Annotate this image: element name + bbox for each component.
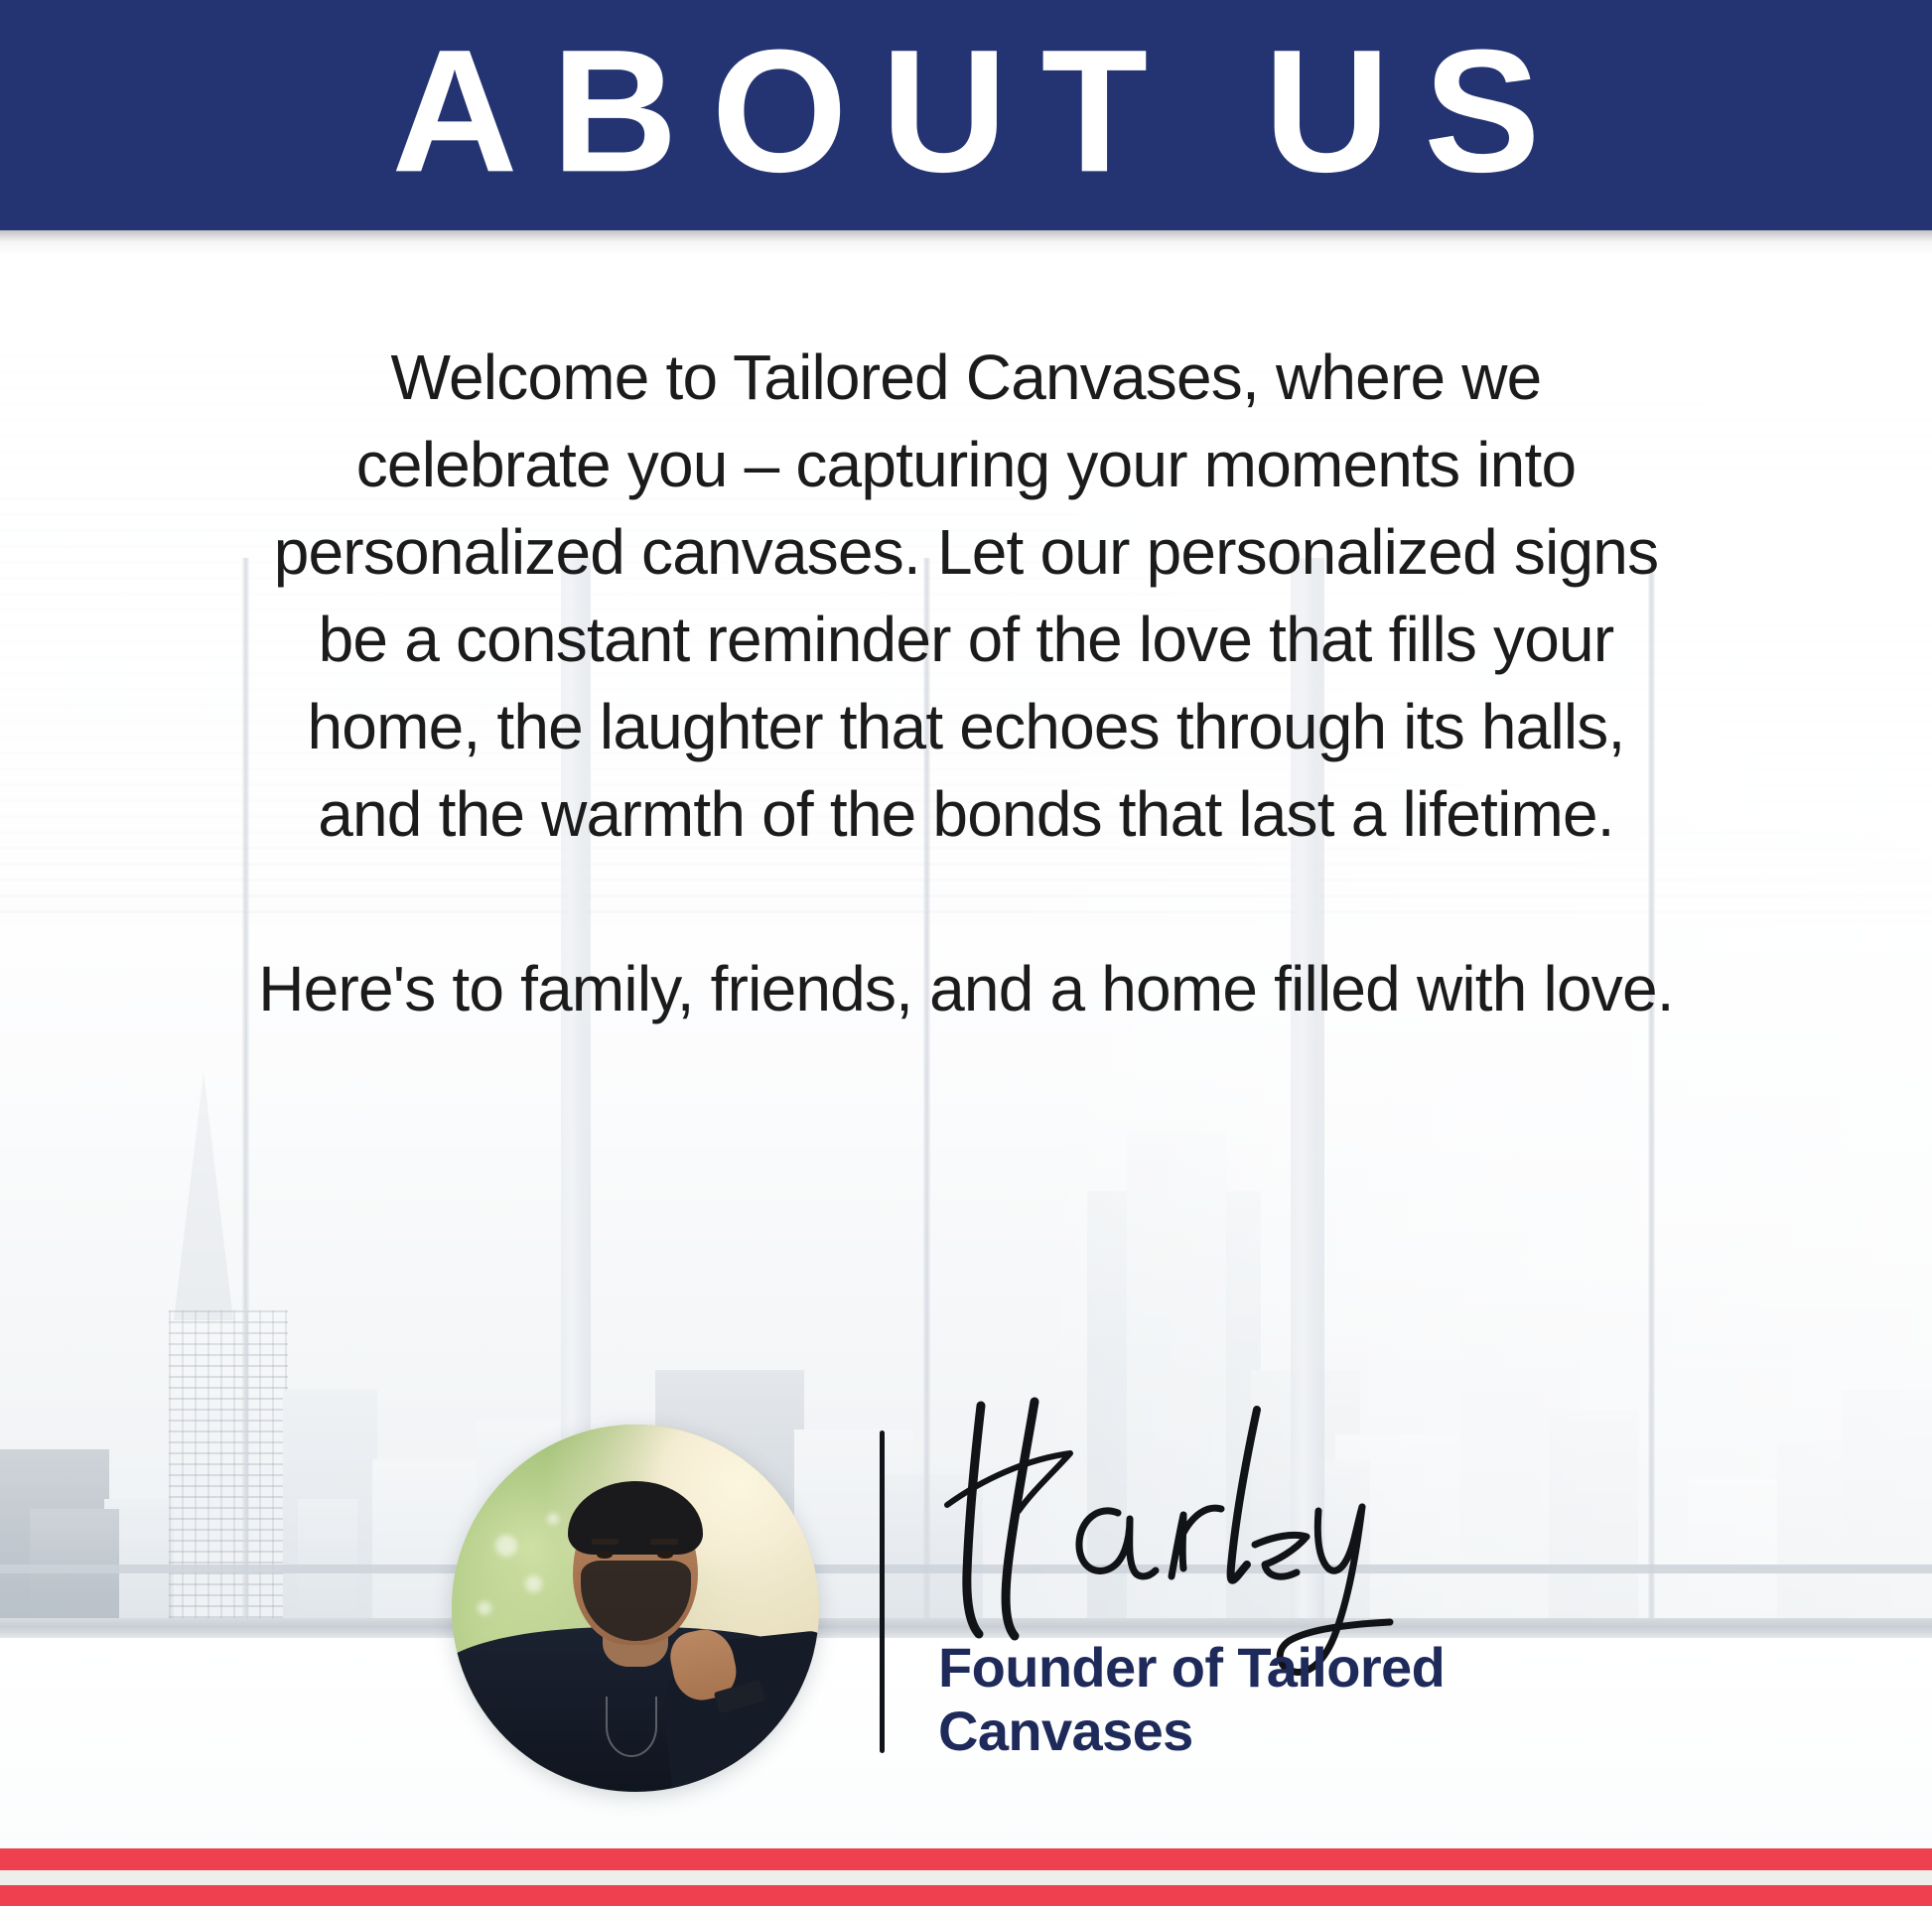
founder-signature (923, 1388, 1539, 1676)
footer-stripe-top (0, 1848, 1932, 1870)
paragraph-spacer (256, 858, 1676, 945)
founder-title: Founder of Tailored Canvases (938, 1636, 1574, 1763)
avatar (452, 1425, 819, 1792)
about-us-page: ABOUT US Welcome to Tailored Canvases, w… (0, 0, 1932, 1906)
pyramid-tower-spire (174, 1072, 233, 1320)
about-us-copy: Welcome to Tailored Canvases, where we c… (256, 334, 1676, 1032)
header-band: ABOUT US (0, 0, 1932, 230)
page-title: ABOUT US (0, 21, 1932, 202)
founder-title-line-2: Canvases (938, 1700, 1574, 1763)
about-paragraph-2: Here's to family, friends, and a home fi… (256, 945, 1676, 1032)
footer-stripe-bottom (0, 1885, 1932, 1906)
about-paragraph-1: Welcome to Tailored Canvases, where we c… (256, 334, 1676, 858)
footer-stripe-gap (0, 1870, 1932, 1885)
founder-title-line-1: Founder of Tailored (938, 1636, 1574, 1700)
signature-divider (880, 1430, 885, 1753)
